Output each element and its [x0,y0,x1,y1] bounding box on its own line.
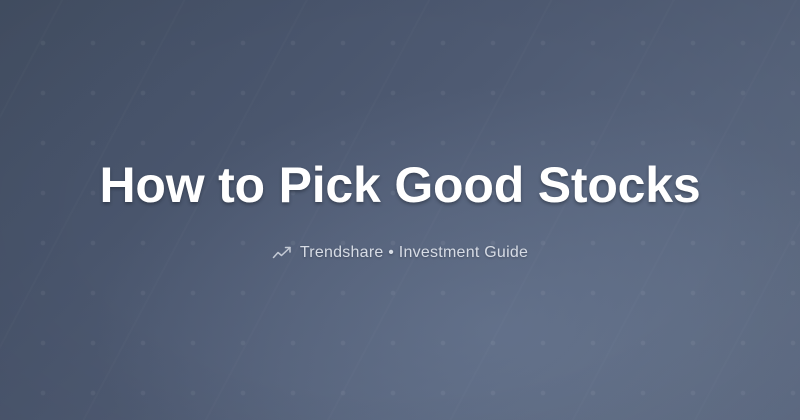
page-title: How to Pick Good Stocks [99,158,700,212]
trend-line-up-icon [272,246,292,260]
subtitle-text: Trendshare • Investment Guide [300,244,528,262]
slide-content: How to Pick Good Stocks Trendshare • Inv… [0,0,800,420]
title-slide: How to Pick Good Stocks Trendshare • Inv… [0,0,800,420]
subtitle-row: Trendshare • Investment Guide [272,244,528,262]
